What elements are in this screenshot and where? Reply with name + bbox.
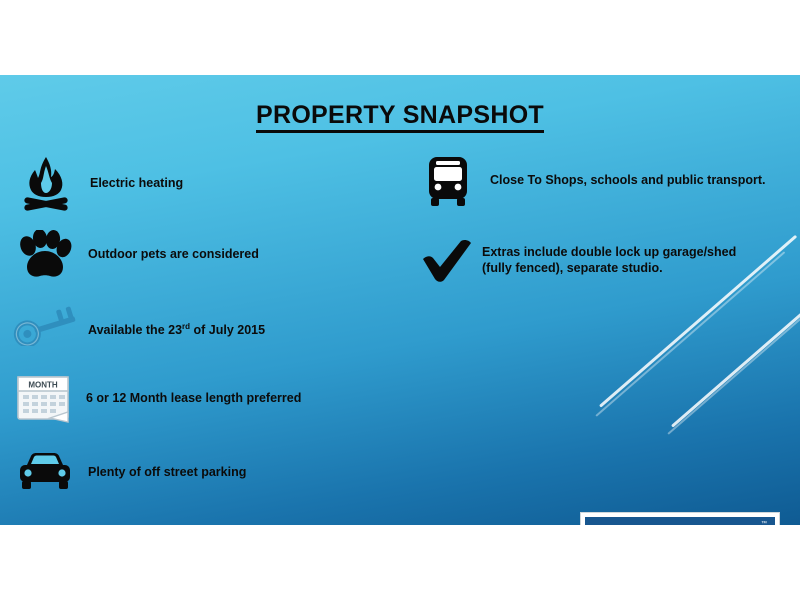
feature-parking: Plenty of off street parking [16,447,396,499]
feature-label: Available the 23rd of July 2015 [88,307,265,339]
key-icon [10,299,82,347]
feature-label: Extras include double lock up garage/she… [482,245,736,276]
checkmark-icon [416,236,478,286]
logo-brand-text: Harcourts [585,524,731,526]
trademark-icon: ™ [761,521,767,525]
campfire-flame-icon [18,155,74,213]
feature-close-to-shops: Close To Shops, schools and public trans… [420,153,800,209]
feature-outdoor-pets: Outdoor pets are considered [16,227,396,283]
feature-label: 6 or 12 Month lease length preferred [86,391,301,407]
feature-label: Close To Shops, schools and public trans… [490,173,766,189]
feature-label: Electric heating [90,176,183,192]
feature-electric-heating: Electric heating [18,153,358,215]
bus-front-icon [420,154,476,208]
feature-label: Plenty of off street parking [88,465,246,481]
feature-extras: Extras include double lock up garage/she… [416,230,800,292]
ordinal-suffix: rd [182,322,190,331]
slide-canvas: PROPERTY SNAPSHOT Electric heating [0,0,800,600]
feature-label-tail: of July 2015 [190,324,265,338]
property-snapshot-slide: PROPERTY SNAPSHOT Electric heating [0,75,800,525]
feature-label-main: Available the 23 [88,324,182,338]
left-feature-column: Electric heating Outdoor pets are consid… [0,75,420,525]
harcourts-logo[interactable]: Harcourts ™ SINCE 1888 LAUNCESTON A MEMB… [580,512,780,525]
car-front-icon [16,450,74,496]
feature-available-date: Available the 23rd of July 2015 [10,297,400,349]
feature-lease-length: MONTH 6 or 12 Month lease length preferr… [14,371,414,427]
logo-brand-box: Harcourts ™ SINCE 1888 [585,517,775,525]
paw-print-icon [16,229,74,281]
svg-text:MONTH: MONTH [28,381,58,390]
right-feature-column: Close To Shops, schools and public trans… [410,75,800,525]
calendar-icon: MONTH [14,373,76,425]
feature-label: Outdoor pets are considered [88,247,259,263]
